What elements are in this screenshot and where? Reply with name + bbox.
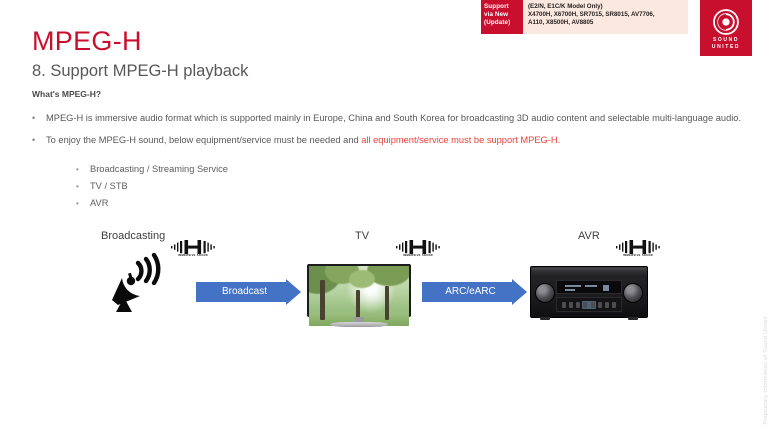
television-icon bbox=[307, 264, 411, 328]
brand-line-1: SOUND bbox=[700, 37, 752, 44]
page-title: MPEG-H bbox=[32, 26, 142, 56]
avr-top-strip bbox=[532, 268, 646, 272]
proprietary-notice: Proprietary Information of Sound United bbox=[763, 316, 769, 425]
avr-display-segment bbox=[585, 285, 597, 287]
mpeg-h-logo-caption: IMMERSIVE SOUND bbox=[395, 254, 441, 258]
sub-bullet-item: • Broadcasting / Streaming Service bbox=[76, 163, 228, 176]
sub-bullet-item: • AVR bbox=[76, 197, 228, 210]
diagram-node-label-broadcasting: Broadcasting bbox=[101, 229, 165, 243]
section-heading: What's MPEG-H? bbox=[32, 89, 101, 99]
page-subtitle: 8. Support MPEG-H playback bbox=[32, 61, 248, 81]
support-models-line-1: (E2/N, E1C/K Model Only) bbox=[528, 3, 688, 11]
support-tag-line-3: (Update) bbox=[484, 19, 523, 27]
satellite-dish-icon bbox=[105, 252, 167, 314]
avr-button bbox=[576, 302, 580, 308]
arrow-broadcast-label: Broadcast bbox=[196, 282, 301, 302]
mpeg-h-logo-broadcasting: IMMERSIVE SOUND bbox=[170, 240, 216, 260]
mpeg-h-logo-tv: IMMERSIVE SOUND bbox=[395, 240, 441, 260]
bullet-list: • MPEG-H is immersive audio format which… bbox=[30, 112, 746, 156]
avr-button bbox=[583, 302, 587, 308]
avr-button bbox=[612, 302, 616, 308]
bullet-text-main: To enjoy the MPEG-H sound, below equipme… bbox=[46, 135, 361, 145]
tv-stand-base bbox=[330, 322, 388, 327]
support-banner-tag: Support via New (Update) bbox=[481, 0, 523, 34]
bullet-item: • MPEG-H is immersive audio format which… bbox=[30, 112, 746, 125]
avr-lower-panel bbox=[556, 297, 622, 312]
bullet-marker: • bbox=[30, 112, 46, 125]
sound-united-circle-icon bbox=[713, 9, 739, 35]
sub-bullet-marker: • bbox=[76, 180, 90, 193]
arrow-arc-earc-label: ARC/eARC bbox=[422, 282, 527, 302]
mpeg-h-immersive-sound-icon bbox=[395, 240, 441, 254]
avr-button bbox=[562, 302, 566, 308]
avr-button bbox=[591, 302, 595, 308]
bullet-text: To enjoy the MPEG-H sound, below equipme… bbox=[46, 134, 560, 147]
sub-bullet-label: TV / STB bbox=[90, 180, 128, 193]
avr-button bbox=[605, 302, 609, 308]
avr-display-segment bbox=[565, 285, 581, 287]
bullet-text-highlight: all equipment/service must be support MP… bbox=[361, 135, 560, 145]
sub-bullet-label: AVR bbox=[90, 197, 108, 210]
avr-knob-left bbox=[535, 283, 555, 303]
avr-foot bbox=[628, 317, 638, 320]
mpeg-h-immersive-sound-icon bbox=[170, 240, 216, 254]
sound-united-wordmark: SOUND UNITED bbox=[700, 37, 752, 51]
avr-display-segment bbox=[603, 285, 609, 291]
bullet-text: MPEG-H is immersive audio format which i… bbox=[46, 112, 741, 125]
mpeg-h-logo-caption: IMMERSIVE SOUND bbox=[615, 254, 661, 258]
tv-image-trunk bbox=[356, 290, 360, 320]
sub-bullet-marker: • bbox=[76, 163, 90, 176]
signal-flow-diagram: Broadcasting bbox=[0, 224, 770, 344]
tv-image-trunk bbox=[385, 286, 389, 320]
mpeg-h-immersive-sound-icon bbox=[615, 240, 661, 254]
support-banner: Support via New (Update) (E2/N, E1C/K Mo… bbox=[481, 0, 688, 34]
avr-display bbox=[556, 280, 622, 294]
avr-button bbox=[598, 302, 602, 308]
avr-knob-right bbox=[623, 283, 643, 303]
bullet-text-main: MPEG-H is immersive audio format which i… bbox=[46, 113, 741, 123]
sub-bullet-list: • Broadcasting / Streaming Service • TV … bbox=[76, 163, 228, 214]
mpeg-h-logo-avr: IMMERSIVE SOUND bbox=[615, 240, 661, 260]
support-tag-line-1: Support bbox=[484, 3, 523, 11]
bullet-marker: • bbox=[30, 134, 46, 147]
arrow-arc-earc: ARC/eARC bbox=[422, 282, 527, 302]
sub-bullet-label: Broadcasting / Streaming Service bbox=[90, 163, 228, 176]
diagram-node-label-avr: AVR bbox=[578, 229, 600, 243]
bullet-item: • To enjoy the MPEG-H sound, below equip… bbox=[30, 134, 746, 147]
avr-foot bbox=[540, 317, 550, 320]
tv-image-foliage bbox=[349, 270, 375, 288]
sub-bullet-marker: • bbox=[76, 197, 90, 210]
avr-display-segment bbox=[565, 289, 575, 291]
arrow-broadcast: Broadcast bbox=[196, 282, 301, 302]
mpeg-h-logo-caption: IMMERSIVE SOUND bbox=[170, 254, 216, 258]
sub-bullet-item: • TV / STB bbox=[76, 180, 228, 193]
support-tag-line-2: via New bbox=[484, 11, 523, 19]
support-models-line-3: A110, X8500H, AV8805 bbox=[528, 19, 688, 27]
sound-united-logo: SOUND UNITED bbox=[700, 0, 752, 56]
support-models-line-2: X4700H, X6700H, SR7015, SR8015, AV7706, bbox=[528, 11, 688, 19]
diagram-node-label-tv: TV bbox=[355, 229, 369, 243]
brand-line-2: UNITED bbox=[700, 44, 752, 51]
support-banner-models: (E2/N, E1C/K Model Only) X4700H, X6700H,… bbox=[523, 0, 688, 34]
avr-button bbox=[569, 302, 573, 308]
av-receiver-icon bbox=[530, 266, 648, 318]
tv-image-trunk bbox=[320, 280, 325, 320]
